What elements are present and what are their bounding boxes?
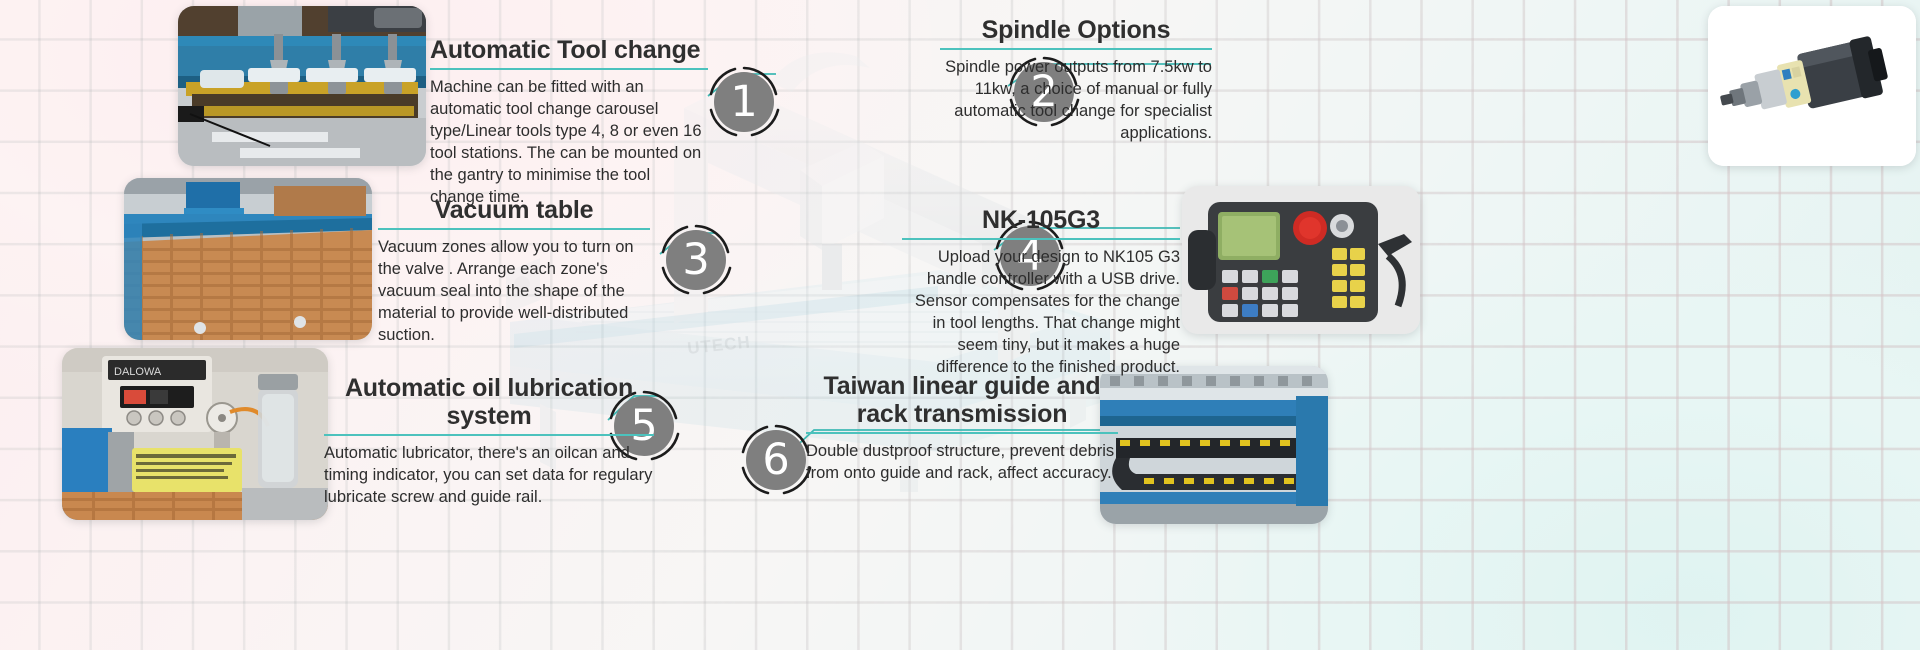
badge-1: 1 [708, 66, 780, 138]
badge-1-number: 1 [708, 66, 780, 138]
feature-5-block: Automatic oil lubrication system Automat… [324, 374, 654, 509]
feature-3-block: Vacuum table Vacuum zones allow you to t… [378, 196, 650, 347]
feature-6-rule [806, 432, 1118, 434]
spindle-photo [1708, 6, 1916, 166]
feature-4-block: NK-105G3 Upload your design to NK105 G3 … [902, 206, 1180, 379]
feature-6-title: Taiwan linear guide and rack transmissio… [806, 372, 1118, 428]
feature-4-title: NK-105G3 [902, 206, 1180, 234]
feature-1-title: Automatic Tool change [430, 36, 708, 64]
badge-6-number: 6 [740, 424, 812, 496]
infographic-canvas: UTECH [0, 0, 1920, 650]
tool-changer-photo [178, 6, 426, 166]
badge-3-number: 3 [660, 224, 732, 296]
feature-2-body: Spindle power outputs from 7.5kw to 11kw… [940, 57, 1212, 145]
feature-1-block: Automatic Tool change Machine can be fit… [430, 36, 708, 209]
feature-5-body: Automatic lubricator, there's an oilcan … [324, 443, 654, 509]
linear-guide-photo [1100, 366, 1328, 524]
feature-5-rule [324, 434, 654, 436]
nk105-controller-photo [1182, 186, 1420, 334]
feature-3-rule [378, 228, 650, 230]
feature-2-block: Spindle Options Spindle power outputs fr… [940, 16, 1212, 145]
feature-2-rule [940, 48, 1212, 50]
feature-6-block: Taiwan linear guide and rack transmissio… [806, 372, 1118, 485]
feature-2-title: Spindle Options [940, 16, 1212, 44]
vacuum-table-photo [124, 178, 372, 340]
feature-6-body: Double dustproof structure, prevent debr… [806, 441, 1118, 485]
badge-3: 3 [660, 224, 732, 296]
oil-lubrication-photo: DALOWA [62, 348, 328, 520]
badge-6: 6 [740, 424, 812, 496]
feature-1-body: Machine can be fitted with an automatic … [430, 77, 708, 209]
feature-4-body: Upload your design to NK105 G3 handle co… [902, 247, 1180, 379]
feature-3-body: Vacuum zones allow you to turn on the va… [378, 237, 650, 347]
svg-text:DALOWA: DALOWA [114, 366, 162, 378]
feature-5-title: Automatic oil lubrication system [324, 374, 654, 430]
feature-3-title: Vacuum table [378, 196, 650, 224]
feature-1-rule [430, 68, 708, 70]
feature-4-rule [902, 238, 1180, 240]
